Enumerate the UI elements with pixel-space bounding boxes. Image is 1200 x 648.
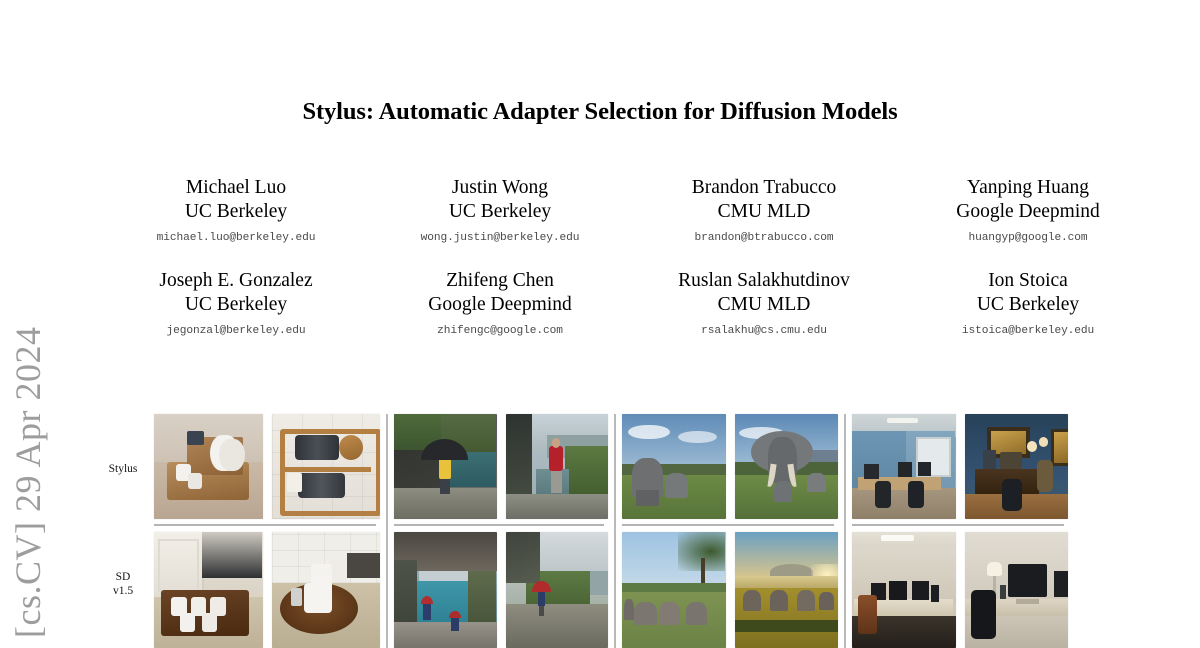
author-affiliation: UC Berkeley <box>104 293 368 317</box>
author-email[interactable]: rsalakhu@cs.cmu.edu <box>632 325 896 339</box>
sd15-image-row <box>394 532 608 648</box>
sd15-image-row <box>154 532 380 648</box>
author-affiliation: UC Berkeley <box>368 200 632 224</box>
paper-page: Stylus: Automatic Adapter Selection for … <box>0 0 1200 648</box>
sd15-image-row <box>852 532 1068 648</box>
stylus-image-row <box>154 414 380 519</box>
author-email[interactable]: istoica@berkeley.edu <box>896 325 1160 339</box>
author-entry: Brandon Trabucco CMU MLD brandon@btrabuc… <box>632 176 896 245</box>
teaser-figure: Stylus SD v1.5 <box>96 414 1200 648</box>
author-name: Joseph E. Gonzalez <box>104 269 368 293</box>
author-entry: Michael Luo UC Berkeley michael.luo@berk… <box>104 176 368 245</box>
author-name: Brandon Trabucco <box>632 176 896 200</box>
author-email[interactable]: wong.justin@berkeley.edu <box>368 232 632 246</box>
author-affiliation: CMU MLD <box>632 200 896 224</box>
author-affiliation: CMU MLD <box>632 293 896 317</box>
generated-image[interactable] <box>272 414 381 519</box>
author-block: Michael Luo UC Berkeley michael.luo@berk… <box>104 176 1160 338</box>
author-entry: Justin Wong UC Berkeley wong.justin@berk… <box>368 176 632 245</box>
generated-image[interactable] <box>394 414 497 519</box>
author-affiliation: UC Berkeley <box>104 200 368 224</box>
author-name: Ion Stoica <box>896 269 1160 293</box>
author-email[interactable]: michael.luo@berkeley.edu <box>104 232 368 246</box>
row-label-sd15-line1: SD <box>116 571 131 583</box>
figure-group-offices <box>842 414 1072 648</box>
author-affiliation: Google Deepmind <box>368 293 632 317</box>
generated-image[interactable] <box>622 414 726 519</box>
stylus-image-row <box>394 414 608 519</box>
row-divider-rule <box>622 524 834 526</box>
author-affiliation: UC Berkeley <box>896 293 1160 317</box>
figure-group-dishware <box>150 414 384 648</box>
generated-image[interactable] <box>506 532 609 648</box>
row-label-stylus: Stylus <box>96 462 150 476</box>
author-affiliation: Google Deepmind <box>896 200 1160 224</box>
author-entry: Ion Stoica UC Berkeley istoica@berkeley.… <box>896 269 1160 338</box>
group-divider-rule <box>386 414 388 648</box>
stylus-image-row <box>852 414 1068 519</box>
author-name: Ruslan Salakhutdinov <box>632 269 896 293</box>
author-row: Michael Luo UC Berkeley michael.luo@berk… <box>104 176 1160 245</box>
author-entry: Yanping Huang Google Deepmind huangyp@go… <box>896 176 1160 245</box>
group-divider-rule <box>844 414 846 648</box>
figure-group-elephants <box>612 414 842 648</box>
generated-image[interactable] <box>735 414 839 519</box>
generated-image[interactable] <box>154 414 263 519</box>
generated-image[interactable] <box>965 414 1069 519</box>
author-email[interactable]: brandon@btrabucco.com <box>632 232 896 246</box>
author-email[interactable]: jegonzal@berkeley.edu <box>104 325 368 339</box>
generated-image[interactable] <box>965 532 1069 648</box>
author-email[interactable]: huangyp@google.com <box>896 232 1160 246</box>
generated-image[interactable] <box>272 532 381 648</box>
group-divider-rule <box>614 414 616 648</box>
author-row: Joseph E. Gonzalez UC Berkeley jegonzal@… <box>104 269 1160 338</box>
figure-group-cliffs <box>384 414 612 648</box>
row-divider-rule <box>154 524 376 526</box>
author-name: Yanping Huang <box>896 176 1160 200</box>
row-label-sd15-line2: v1.5 <box>113 585 133 597</box>
author-email[interactable]: zhifengc@google.com <box>368 325 632 339</box>
author-name: Justin Wong <box>368 176 632 200</box>
author-name: Michael Luo <box>104 176 368 200</box>
row-label-stylus-text: Stylus <box>109 463 138 475</box>
generated-image[interactable] <box>852 532 956 648</box>
generated-image[interactable] <box>394 532 497 648</box>
row-divider-rule <box>852 524 1064 526</box>
page-title: Stylus: Automatic Adapter Selection for … <box>0 98 1200 126</box>
figure-row-labels: Stylus SD v1.5 <box>96 414 150 648</box>
author-entry: Joseph E. Gonzalez UC Berkeley jegonzal@… <box>104 269 368 338</box>
generated-image[interactable] <box>852 414 956 519</box>
author-entry: Zhifeng Chen Google Deepmind zhifengc@go… <box>368 269 632 338</box>
sd15-image-row <box>622 532 838 648</box>
generated-image[interactable] <box>622 532 726 648</box>
generated-image[interactable] <box>735 532 839 648</box>
generated-image[interactable] <box>154 532 263 648</box>
row-divider-rule <box>394 524 604 526</box>
author-entry: Ruslan Salakhutdinov CMU MLD rsalakhu@cs… <box>632 269 896 338</box>
figure-column-groups <box>150 414 1200 648</box>
author-name: Zhifeng Chen <box>368 269 632 293</box>
generated-image[interactable] <box>506 414 609 519</box>
row-label-sd15: SD v1.5 <box>96 570 150 599</box>
stylus-image-row <box>622 414 838 519</box>
